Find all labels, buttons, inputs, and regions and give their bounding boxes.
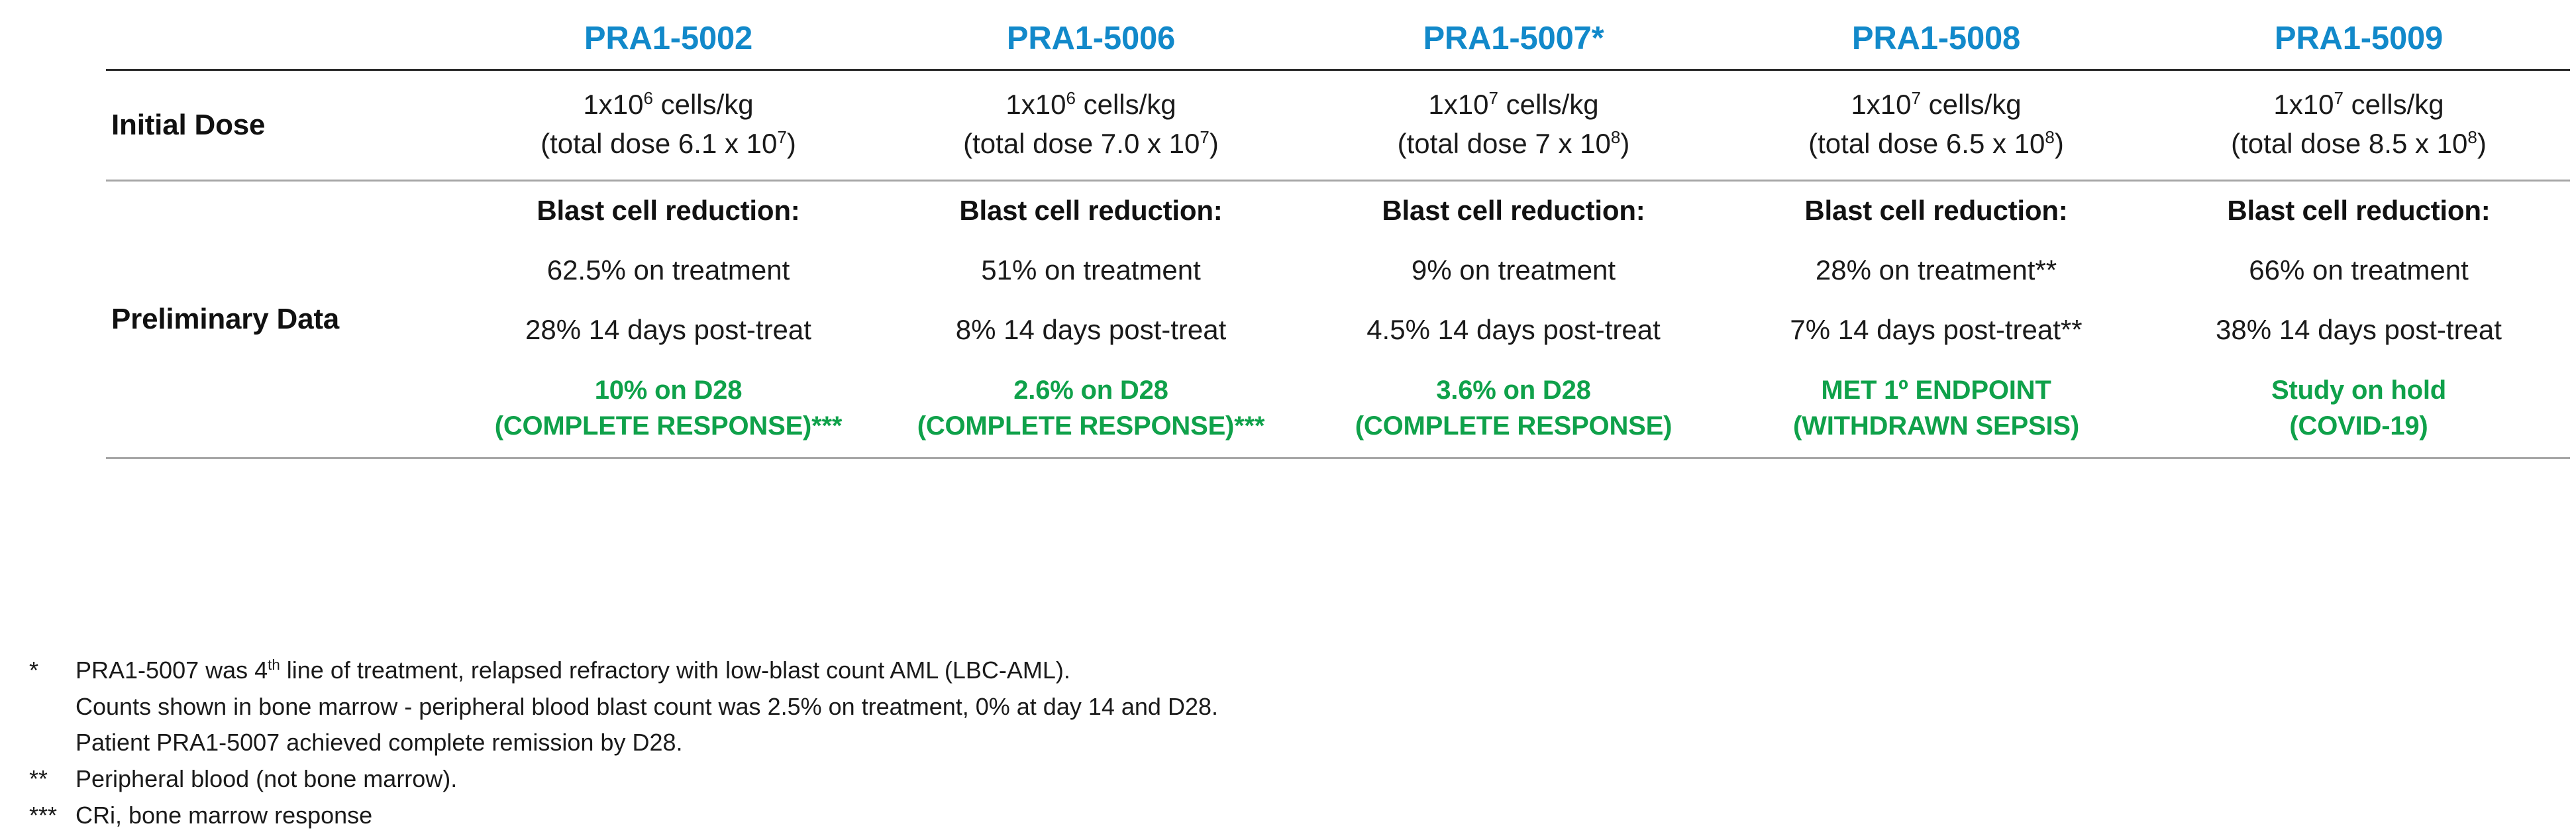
total-dose-prefix: (total dose 6.1 x 10 [541, 128, 777, 159]
footnote-marker-spacer: * [15, 725, 76, 761]
rule-cell [880, 458, 1302, 460]
total-dose-prefix: (total dose 6.5 x 10 [1808, 128, 2045, 159]
rule-cell [457, 458, 880, 460]
total-dose-line: (total dose 6.1 x 107) [460, 125, 877, 164]
dose-exponent: 6 [1066, 88, 1075, 108]
table-bottom-rule [106, 458, 2570, 460]
slide-table-page: PRA1-5002 PRA1-5006 PRA1-5007* PRA1-5008… [0, 0, 2576, 840]
column-header-pra1-5009: PRA1-5009 [2147, 20, 2570, 70]
total-dose-prefix: (total dose 7 x 10 [1398, 128, 1611, 159]
total-dose-suffix: ) [2055, 128, 2064, 159]
status-line-1: 2.6% on D28 [1013, 376, 1168, 405]
status-line-2: (COMPLETE RESPONSE)*** [460, 408, 877, 444]
post-treat-value: 28% 14 days post-treat [460, 314, 877, 346]
dose-unit: cells/kg [1076, 89, 1176, 120]
dose-unit: cells/kg [653, 89, 754, 120]
footnote-text: Peripheral blood (not bone marrow). [76, 761, 2465, 798]
column-header-pra1-5008: PRA1-5008 [1725, 20, 2147, 70]
on-treatment-value: 62.5% on treatment [460, 254, 877, 286]
table-header-row: PRA1-5002 PRA1-5006 PRA1-5007* PRA1-5008… [106, 20, 2570, 70]
footnote-double-asterisk: ** Peripheral blood (not bone marrow). [15, 761, 2465, 798]
post-treat-value: 8% 14 days post-treat [882, 314, 1300, 346]
rule-cell [106, 458, 457, 460]
total-dose-line: (total dose 8.5 x 108) [2150, 125, 2567, 164]
on-treatment-value: 51% on treatment [882, 254, 1300, 286]
column-header-pra1-5007: PRA1-5007* [1302, 20, 1725, 70]
footnote-text-pre: PRA1-5007 was 4 [76, 656, 268, 684]
cell-initial-dose-pra1-5009: 1x107 cells/kg (total dose 8.5 x 108) [2147, 70, 2570, 181]
status-line-1: 10% on D28 [595, 376, 743, 405]
footnote-text: Patient PRA1-5007 achieved complete remi… [76, 725, 2465, 761]
blast-cell-reduction-heading: Blast cell reduction: [1305, 195, 1722, 227]
footnote-marker: * [15, 653, 76, 689]
footnote-text: CRi, bone marrow response [76, 798, 2465, 834]
rule-cell [1302, 458, 1725, 460]
footnote-marker: ** [15, 761, 76, 798]
total-dose-exponent: 8 [2045, 127, 2054, 147]
table-row-preliminary-data: Preliminary Data Blast cell reduction: 6… [106, 180, 2570, 458]
footnote-single-asterisk-line3: * Patient PRA1-5007 achieved complete re… [15, 725, 2465, 761]
dose-exponent: 7 [1911, 88, 1920, 108]
post-treat-value: 38% 14 days post-treat [2150, 314, 2567, 346]
status-badge: MET 1º ENDPOINT(WITHDRAWN SEPSIS) [1727, 372, 2145, 444]
status-badge: Study on hold(COVID-19) [2150, 372, 2567, 444]
row-label-preliminary-data: Preliminary Data [106, 180, 457, 458]
on-treatment-value: 28% on treatment** [1727, 254, 2145, 286]
status-badge: 10% on D28(COMPLETE RESPONSE)*** [460, 372, 877, 444]
total-dose-exponent: 8 [1611, 127, 1620, 147]
footnote-text-post: line of treatment, relapsed refractory w… [280, 656, 1070, 684]
blast-cell-reduction-heading: Blast cell reduction: [2150, 195, 2567, 227]
rule-cell [2147, 458, 2570, 460]
dose-exponent: 6 [643, 88, 652, 108]
total-dose-suffix: ) [1210, 128, 1219, 159]
total-dose-exponent: 8 [2467, 127, 2477, 147]
dose-value: 1x10 [1851, 89, 1911, 120]
total-dose-suffix: ) [1620, 128, 1629, 159]
status-line-1: MET 1º ENDPOINT [1821, 376, 2051, 405]
footnote-single-asterisk: * PRA1-5007 was 4th line of treatment, r… [15, 653, 2465, 689]
footnotes-block: * PRA1-5007 was 4th line of treatment, r… [15, 653, 2465, 834]
total-dose-prefix: (total dose 7.0 x 10 [963, 128, 1200, 159]
footnote-text: PRA1-5007 was 4th line of treatment, rel… [76, 653, 2465, 689]
footnote-superscript: th [268, 656, 280, 673]
total-dose-exponent: 7 [777, 127, 786, 147]
dose-unit: cells/kg [1498, 89, 1599, 120]
status-line-1: Study on hold [2271, 376, 2446, 405]
blast-cell-reduction-heading: Blast cell reduction: [1727, 195, 2145, 227]
total-dose-suffix: ) [2477, 128, 2487, 159]
header-corner-cell [106, 20, 457, 70]
status-line-2: (WITHDRAWN SEPSIS) [1727, 408, 2145, 444]
status-badge: 2.6% on D28(COMPLETE RESPONSE)*** [882, 372, 1300, 444]
column-header-pra1-5002: PRA1-5002 [457, 20, 880, 70]
cell-initial-dose-pra1-5006: 1x106 cells/kg (total dose 7.0 x 107) [880, 70, 1302, 181]
status-badge: 3.6% on D28(COMPLETE RESPONSE) [1305, 372, 1722, 444]
table-row-initial-dose: Initial Dose 1x106 cells/kg (total dose … [106, 70, 2570, 181]
status-line-2: (COVID-19) [2150, 408, 2567, 444]
footnote-marker: *** [15, 798, 76, 834]
cell-preliminary-pra1-5009: Blast cell reduction: 66% on treatment 3… [2147, 180, 2570, 458]
clinical-results-table: PRA1-5002 PRA1-5006 PRA1-5007* PRA1-5008… [106, 20, 2570, 460]
status-line-2: (COMPLETE RESPONSE)*** [882, 408, 1300, 444]
total-dose-line: (total dose 6.5 x 108) [1727, 125, 2145, 164]
total-dose-line: (total dose 7.0 x 107) [882, 125, 1300, 164]
blast-cell-reduction-heading: Blast cell reduction: [460, 195, 877, 227]
footnote-single-asterisk-line2: * Counts shown in bone marrow - peripher… [15, 689, 2465, 725]
cell-initial-dose-pra1-5008: 1x107 cells/kg (total dose 6.5 x 108) [1725, 70, 2147, 181]
total-dose-line: (total dose 7 x 108) [1305, 125, 1722, 164]
dose-unit: cells/kg [1921, 89, 2022, 120]
dose-exponent: 7 [1488, 88, 1498, 108]
rule-cell [1725, 458, 2147, 460]
row-label-initial-dose: Initial Dose [106, 70, 457, 181]
cell-preliminary-pra1-5008: Blast cell reduction: 28% on treatment**… [1725, 180, 2147, 458]
cell-initial-dose-pra1-5002: 1x106 cells/kg (total dose 6.1 x 107) [457, 70, 880, 181]
cell-preliminary-pra1-5002: Blast cell reduction: 62.5% on treatment… [457, 180, 880, 458]
post-treat-value: 7% 14 days post-treat** [1727, 314, 2145, 346]
dose-value: 1x10 [583, 89, 643, 120]
on-treatment-value: 9% on treatment [1305, 254, 1722, 286]
dose-value: 1x10 [2273, 89, 2334, 120]
status-line-2: (COMPLETE RESPONSE) [1305, 408, 1722, 444]
total-dose-suffix: ) [787, 128, 796, 159]
footnote-marker-spacer: * [15, 689, 76, 725]
dose-unit: cells/kg [2344, 89, 2444, 120]
dose-exponent: 7 [2334, 88, 2343, 108]
column-header-pra1-5006: PRA1-5006 [880, 20, 1302, 70]
total-dose-prefix: (total dose 8.5 x 10 [2231, 128, 2467, 159]
dose-value: 1x10 [1428, 89, 1488, 120]
cell-initial-dose-pra1-5007: 1x107 cells/kg (total dose 7 x 108) [1302, 70, 1725, 181]
post-treat-value: 4.5% 14 days post-treat [1305, 314, 1722, 346]
footnote-text: Counts shown in bone marrow - peripheral… [76, 689, 2465, 725]
total-dose-exponent: 7 [1200, 127, 1209, 147]
dose-value: 1x10 [1005, 89, 1066, 120]
status-line-1: 3.6% on D28 [1436, 376, 1590, 405]
footnote-triple-asterisk: *** CRi, bone marrow response [15, 798, 2465, 834]
on-treatment-value: 66% on treatment [2150, 254, 2567, 286]
blast-cell-reduction-heading: Blast cell reduction: [882, 195, 1300, 227]
cell-preliminary-pra1-5007: Blast cell reduction: 9% on treatment 4.… [1302, 180, 1725, 458]
cell-preliminary-pra1-5006: Blast cell reduction: 51% on treatment 8… [880, 180, 1302, 458]
